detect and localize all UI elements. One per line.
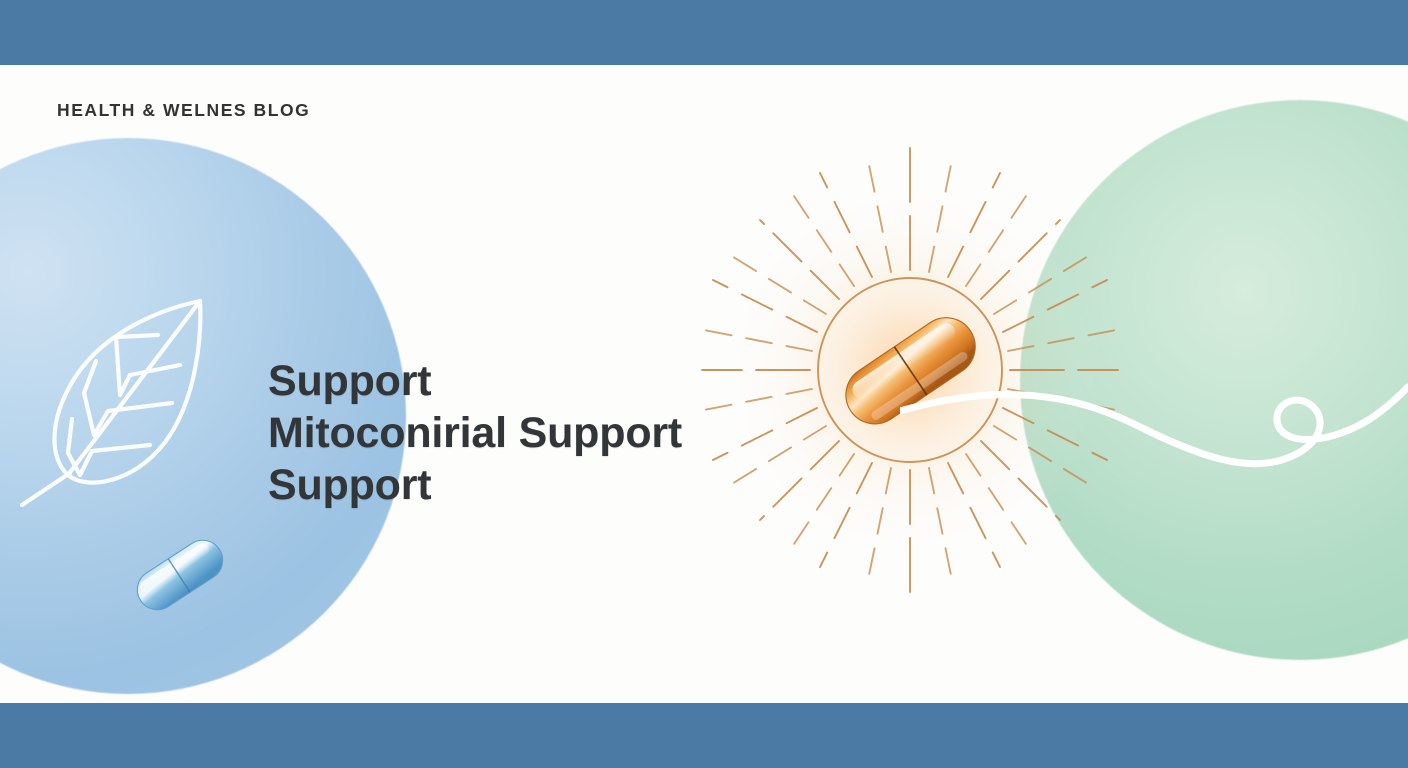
banner-stage: Support Mitoconirial Support Support <box>0 65 1408 703</box>
leaf-outline-icon <box>12 283 222 513</box>
blog-kicker-label: HEALTH & WELNES BLOG <box>57 100 310 121</box>
heading-line-3: Support <box>268 459 682 511</box>
page-title: Support Mitoconirial Support Support <box>268 355 682 511</box>
blue-capsule-pill <box>115 525 245 625</box>
health-blog-banner: Support Mitoconirial Support Support <box>0 0 1408 768</box>
heading-line-1: Support <box>268 355 682 407</box>
bottom-accent-bar <box>0 703 1408 768</box>
white-flowing-ribbon <box>900 315 1408 535</box>
top-accent-bar <box>0 0 1408 65</box>
heading-line-2: Mitoconirial Support <box>268 407 682 459</box>
